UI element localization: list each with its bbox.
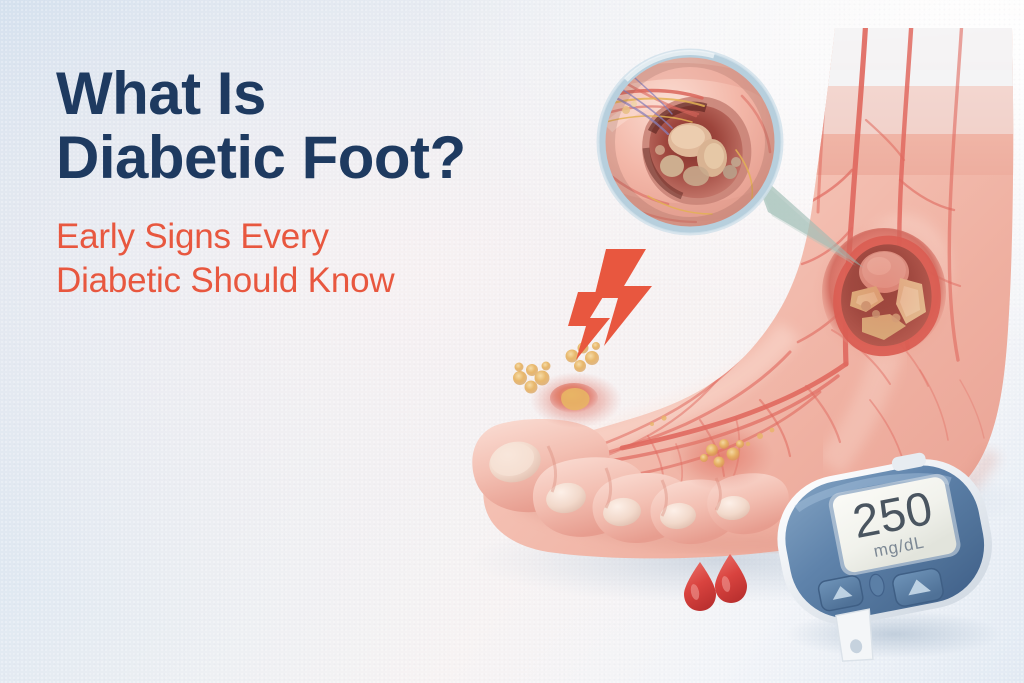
glucose-meter: 250 mg/dL [766,448,1014,660]
ankle-ulcer [812,218,956,366]
page-subtitle: Early Signs Every Diabetic Should Know [56,215,596,303]
infographic-banner: 250 mg/dL Wh [0,0,1024,683]
subtitle-line-2: Diabetic Should Know [56,259,596,303]
headline-block: What Is Diabetic Foot? Early Signs Every… [56,62,596,303]
magnifier-inset [598,50,784,236]
page-title: What Is Diabetic Foot? [56,62,596,189]
lightning-bolt-large [594,249,652,346]
title-line-2: Diabetic Foot? [56,126,596,190]
title-line-1: What Is [56,60,266,127]
subtitle-line-1: Early Signs Every [56,217,329,256]
